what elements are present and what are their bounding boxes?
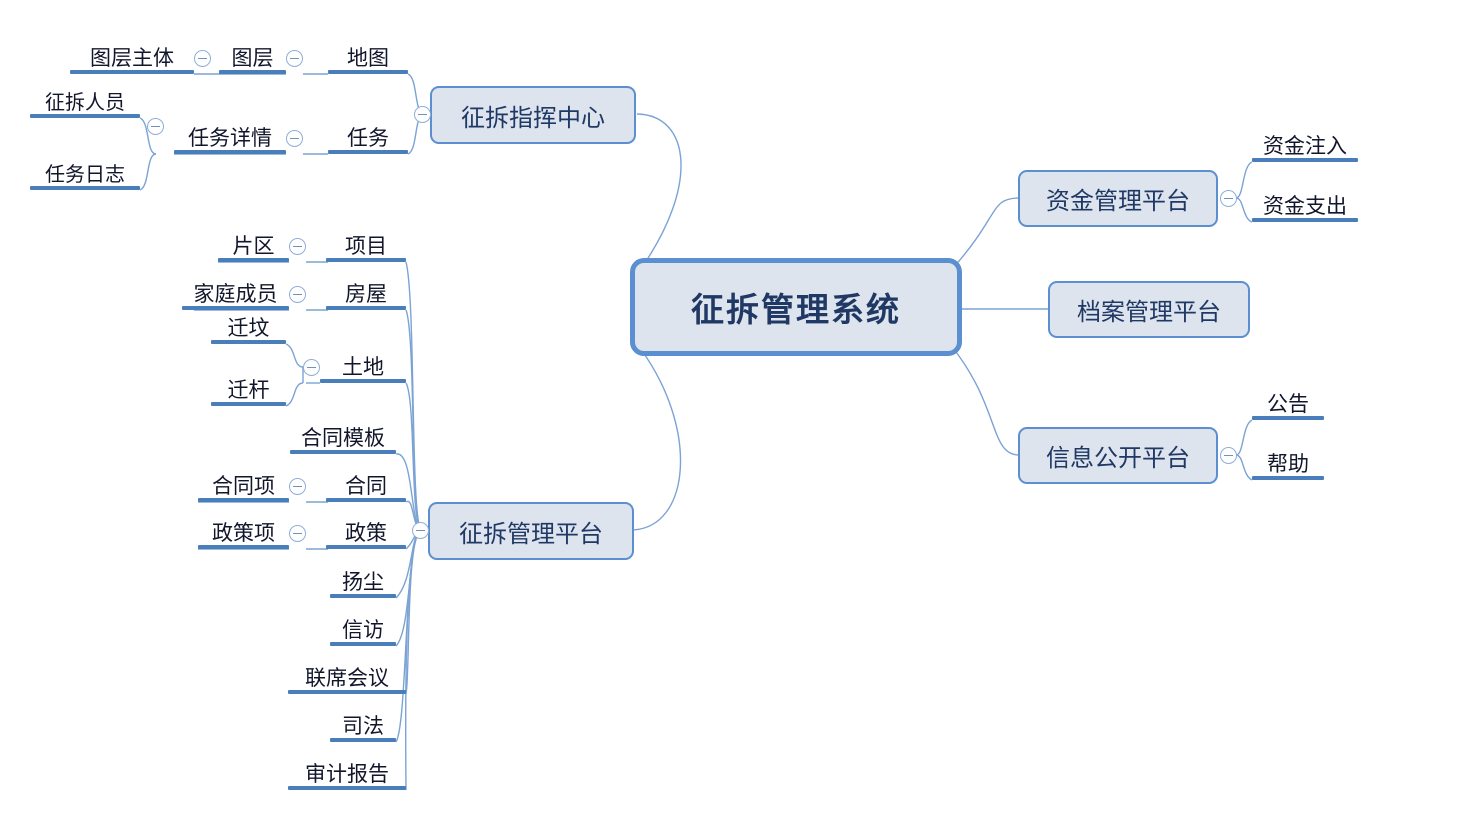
platform-label: 信息公开平台 (1046, 438, 1190, 473)
collapse-toggle-project[interactable] (289, 238, 306, 255)
leaf-label: 司法 (342, 716, 384, 737)
leaf-label: 任务日志 (45, 165, 125, 185)
leaf-district[interactable]: 片区 (218, 230, 289, 262)
leaf-label: 合同项 (212, 476, 275, 497)
collapse-toggle-command-center[interactable] (414, 106, 431, 123)
leaf-label: 任务详情 (188, 128, 272, 149)
leaf-label: 项目 (345, 236, 387, 257)
leaf-underline (174, 150, 286, 154)
leaf-petition[interactable]: 信访 (330, 614, 396, 646)
leaf-label: 合同 (345, 476, 387, 497)
leaf-joint-meeting[interactable]: 联席会议 (288, 662, 406, 694)
leaf-policy[interactable]: 政策 (326, 517, 406, 549)
root-node-label: 征拆管理系统 (691, 283, 901, 331)
leaf-underline (211, 402, 286, 406)
leaf-label: 政策 (345, 523, 387, 544)
leaf-underline (326, 545, 406, 549)
mindmap-canvas: 征拆管理系统 征拆指挥中心 征拆管理平台 资金管理平台 档案管理平台 信息公开平… (0, 0, 1466, 836)
leaf-label: 迁坟 (228, 318, 270, 339)
collapse-toggle-task-detail-children[interactable] (147, 118, 164, 135)
leaf-label: 资金注入 (1263, 136, 1347, 157)
leaf-underline (198, 545, 289, 549)
leaf-underline (288, 786, 406, 790)
leaf-label: 地图 (347, 48, 389, 69)
leaf-contract[interactable]: 合同 (326, 470, 406, 502)
leaf-underline (30, 114, 140, 118)
leaf-underline (326, 498, 406, 502)
leaf-task-detail[interactable]: 任务详情 (174, 122, 286, 154)
leaf-label: 扬尘 (342, 572, 384, 593)
leaf-label: 图层 (232, 48, 274, 69)
leaf-underline (320, 379, 406, 383)
leaf-underline (218, 258, 289, 262)
collapse-toggle-map-layer[interactable] (286, 50, 303, 67)
leaf-land[interactable]: 土地 (320, 351, 406, 383)
leaf-label: 联席会议 (305, 668, 389, 689)
leaf-fund-in[interactable]: 资金注入 (1252, 130, 1358, 162)
leaf-underline (1252, 476, 1324, 480)
leaf-label: 图层主体 (90, 48, 174, 69)
leaf-underline (182, 306, 289, 310)
leaf-dust[interactable]: 扬尘 (330, 566, 396, 598)
collapse-toggle-layer-subject[interactable] (194, 50, 211, 67)
leaf-pole-move[interactable]: 迁杆 (211, 374, 286, 406)
leaf-label: 片区 (233, 236, 275, 257)
leaf-audit-report[interactable]: 审计报告 (288, 758, 406, 790)
leaf-label: 征拆人员 (45, 93, 125, 113)
leaf-map[interactable]: 地图 (328, 42, 408, 74)
platform-node-disclosure[interactable]: 信息公开平台 (1018, 427, 1218, 484)
leaf-underline (70, 70, 194, 74)
leaf-underline (328, 70, 408, 74)
platform-label: 资金管理平台 (1046, 181, 1190, 216)
platform-node-management[interactable]: 征拆管理平台 (428, 502, 634, 560)
leaf-grave-move[interactable]: 迁坟 (211, 312, 286, 344)
collapse-toggle-land[interactable] (303, 359, 320, 376)
leaf-underline (330, 594, 396, 598)
platform-label: 档案管理平台 (1077, 292, 1221, 327)
collapse-toggle-fund[interactable] (1220, 190, 1237, 207)
leaf-label: 土地 (342, 357, 384, 378)
leaf-label: 公告 (1267, 394, 1309, 415)
leaf-underline (326, 306, 406, 310)
collapse-toggle-management[interactable] (412, 522, 429, 539)
leaf-layer-subject[interactable]: 图层主体 (70, 42, 194, 74)
leaf-label: 政策项 (212, 523, 275, 544)
leaf-label: 家庭成员 (194, 284, 278, 305)
leaf-contract-item[interactable]: 合同项 (198, 470, 289, 502)
leaf-task-log[interactable]: 任务日志 (30, 158, 140, 190)
leaf-underline (288, 690, 406, 694)
leaf-label: 迁杆 (228, 380, 270, 401)
leaf-family-member[interactable]: 家庭成员 (182, 278, 289, 310)
leaf-label: 合同模板 (301, 428, 385, 449)
leaf-house[interactable]: 房屋 (326, 278, 406, 310)
leaf-label: 资金支出 (1263, 196, 1347, 217)
collapse-toggle-disclosure[interactable] (1220, 447, 1237, 464)
leaf-underline (330, 642, 396, 646)
platform-label: 征拆指挥中心 (461, 98, 605, 133)
leaf-underline (328, 150, 408, 154)
leaf-underline (1252, 218, 1358, 222)
leaf-underline (1252, 158, 1358, 162)
leaf-underline (198, 498, 289, 502)
collapse-toggle-contract[interactable] (289, 478, 306, 495)
leaf-underline (330, 738, 396, 742)
platform-label: 征拆管理平台 (459, 514, 603, 549)
leaf-task[interactable]: 任务 (328, 122, 408, 154)
leaf-project[interactable]: 项目 (326, 230, 406, 262)
collapse-toggle-task-detail[interactable] (286, 130, 303, 147)
leaf-staff[interactable]: 征拆人员 (30, 86, 140, 118)
leaf-layer[interactable]: 图层 (219, 42, 286, 74)
platform-node-archive[interactable]: 档案管理平台 (1048, 281, 1250, 338)
collapse-toggle-house[interactable] (289, 286, 306, 303)
leaf-fund-out[interactable]: 资金支出 (1252, 190, 1358, 222)
leaf-judicial[interactable]: 司法 (330, 710, 396, 742)
leaf-policy-item[interactable]: 政策项 (198, 517, 289, 549)
leaf-underline (290, 450, 396, 454)
leaf-label: 审计报告 (305, 764, 389, 785)
leaf-underline (219, 70, 286, 74)
leaf-notice[interactable]: 公告 (1252, 388, 1324, 420)
leaf-underline (211, 340, 286, 344)
leaf-label: 帮助 (1267, 454, 1309, 475)
root-node[interactable]: 征拆管理系统 (630, 258, 962, 356)
leaf-underline (1252, 416, 1324, 420)
platform-node-command-center[interactable]: 征拆指挥中心 (430, 86, 636, 144)
leaf-label: 任务 (347, 128, 389, 149)
leaf-label: 信访 (342, 620, 384, 641)
leaf-underline (326, 258, 406, 262)
leaf-contract-template[interactable]: 合同模板 (290, 422, 396, 454)
leaf-label: 房屋 (345, 284, 387, 305)
platform-node-fund[interactable]: 资金管理平台 (1018, 170, 1218, 227)
collapse-toggle-policy[interactable] (289, 525, 306, 542)
leaf-underline (30, 186, 140, 190)
leaf-help[interactable]: 帮助 (1252, 448, 1324, 480)
